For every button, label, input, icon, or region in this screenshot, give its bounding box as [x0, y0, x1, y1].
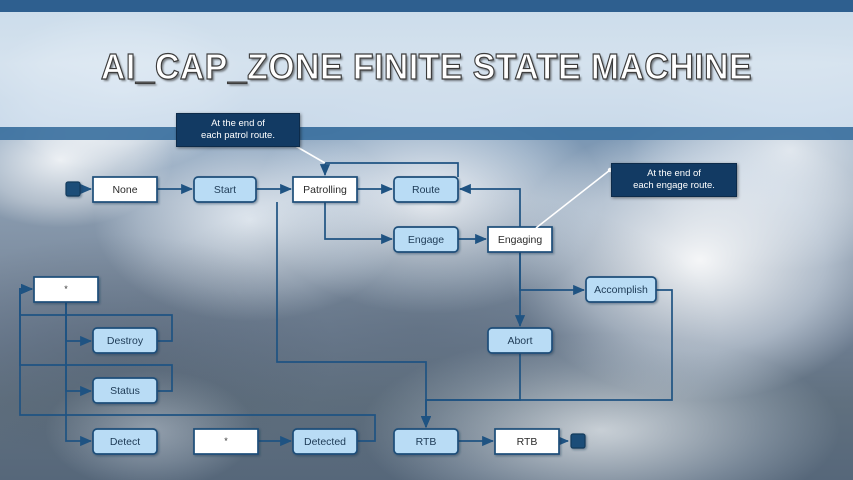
node-start[interactable]: Start: [194, 177, 256, 202]
node-detected-label: Detected: [304, 436, 346, 448]
node-route-label: Route: [412, 184, 440, 196]
end-node-marker: [571, 434, 585, 448]
start-node-marker: [66, 182, 80, 196]
edge-wildcard1-detect: [66, 302, 91, 441]
node-route[interactable]: Route: [394, 177, 458, 202]
node-engage-label: Engage: [408, 234, 444, 246]
callout-engage-line2: each engage route.: [619, 180, 729, 192]
callout-patrol-route[interactable]: At the end of each patrol route.: [176, 113, 300, 147]
edge-engaging-route: [460, 189, 520, 227]
node-abort-label: Abort: [507, 335, 532, 347]
callout-patrol-line2: each patrol route.: [184, 130, 292, 142]
node-abort[interactable]: Abort: [488, 328, 552, 353]
node-wildcard-1[interactable]: *: [34, 277, 98, 302]
edge-route-patrolling: [325, 163, 458, 177]
node-wildcard-2[interactable]: *: [194, 429, 258, 454]
node-status[interactable]: Status: [93, 378, 157, 403]
node-accomplish[interactable]: Accomplish: [586, 277, 656, 302]
node-start-label: Start: [214, 184, 236, 196]
node-wildcard-2-label: *: [224, 436, 228, 446]
node-rtb-1[interactable]: RTB: [394, 429, 458, 454]
node-rtb-2[interactable]: RTB: [495, 429, 559, 454]
edge-engaging-accomplish: [520, 252, 584, 290]
node-destroy[interactable]: Destroy: [93, 328, 157, 353]
edge-accomplish-rtb: [426, 290, 672, 427]
callout-patrol-line1: At the end of: [184, 118, 292, 130]
callout-engage-route[interactable]: At the end of each engage route.: [611, 163, 737, 197]
fsm-diagram: None Start Patrolling Route Engage Engag…: [0, 0, 853, 480]
node-none-label: None: [112, 184, 137, 196]
node-detected[interactable]: Detected: [293, 429, 357, 454]
node-detect[interactable]: Detect: [93, 429, 157, 454]
callout-engage-line1: At the end of: [619, 168, 729, 180]
node-rtb-1-label: RTB: [416, 436, 437, 448]
node-engaging-label: Engaging: [498, 234, 543, 246]
edge-patrolling-engage: [325, 202, 392, 239]
slide-canvas: AI_CAP_ZONE FINITE STATE MACHINE: [0, 0, 853, 480]
node-status-label: Status: [110, 385, 140, 397]
node-accomplish-label: Accomplish: [594, 284, 648, 296]
node-engaging[interactable]: Engaging: [488, 227, 552, 252]
edge-wildcard1-destroy: [66, 302, 91, 341]
node-detect-label: Detect: [110, 436, 140, 448]
node-patrolling-label: Patrolling: [303, 184, 347, 196]
node-patrolling[interactable]: Patrolling: [293, 177, 357, 202]
node-destroy-label: Destroy: [107, 335, 144, 347]
edge-abort-rtb: [426, 353, 520, 427]
callout-engage-leader: [536, 170, 610, 228]
node-rtb-2-label: RTB: [517, 436, 538, 448]
node-none[interactable]: None: [93, 177, 157, 202]
node-wildcard-1-label: *: [64, 284, 68, 294]
node-engage[interactable]: Engage: [394, 227, 458, 252]
